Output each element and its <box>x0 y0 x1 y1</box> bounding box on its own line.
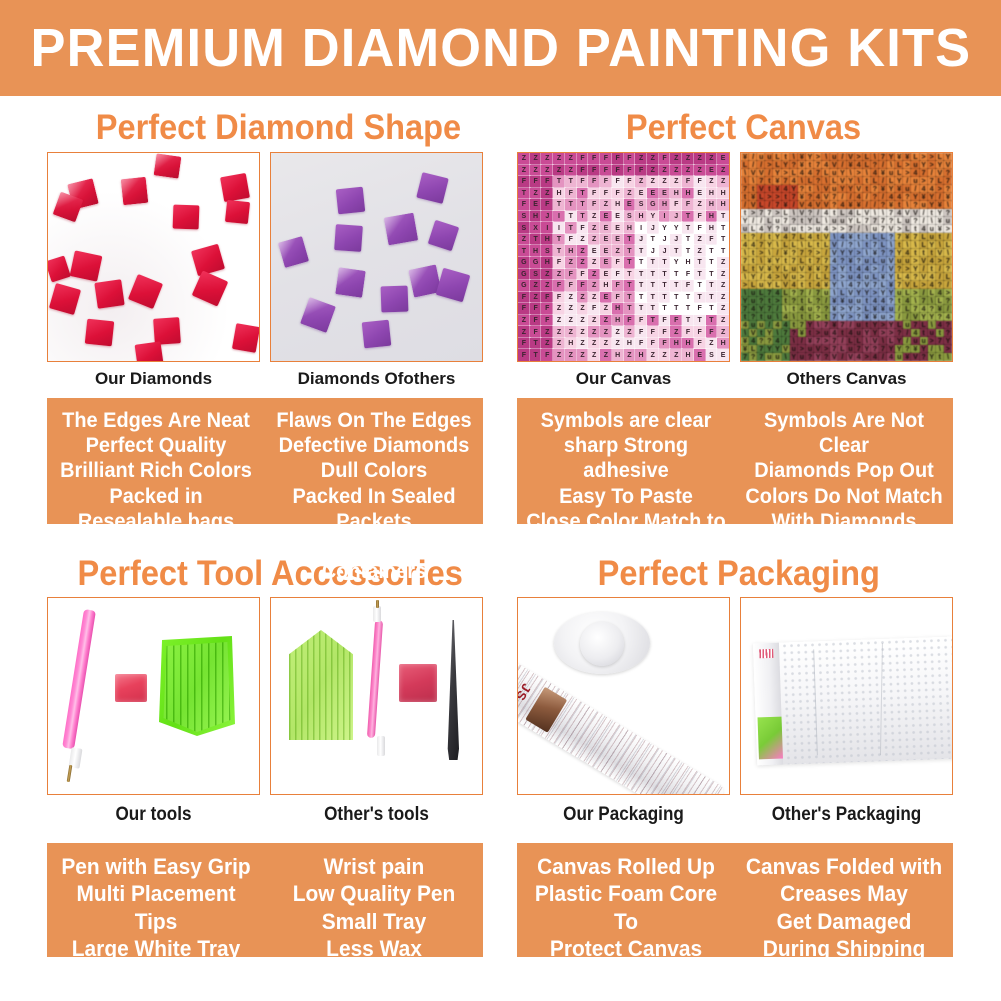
canvas-symbol-cell: / <box>895 305 903 313</box>
canvas-symbol-cell: 7 <box>814 257 822 265</box>
canvas-symbol-cell: 4 <box>822 209 830 217</box>
canvas-symbol-cell: t <box>741 193 749 201</box>
canvas-symbol-cell: 4 <box>879 297 887 305</box>
canvas-symbol-cell: 7 <box>782 177 790 185</box>
canvas-symbol-cell: F <box>541 176 553 188</box>
canvas-symbol-cell: T <box>694 269 706 281</box>
canvas-symbol-cell: ? <box>944 185 952 193</box>
canvas-symbol-cell: t <box>822 313 830 321</box>
canvas-symbol-cell: Y <box>659 222 671 234</box>
canvas-symbol-cell: T <box>717 245 729 257</box>
canvas-symbol-cell: 7 <box>879 225 887 233</box>
canvas-symbol-cell: t <box>814 241 822 249</box>
caption-other-diamonds: Diamonds Ofothers <box>270 370 483 387</box>
canvas-symbol-cell: ? <box>871 193 879 201</box>
canvas-symbol-cell: L <box>911 153 919 161</box>
canvas-symbol-cell: / <box>903 313 911 321</box>
canvas-symbol-cell: Z <box>635 153 647 165</box>
canvas-symbol-cell: 4 <box>928 281 936 289</box>
canvas-symbol-cell: t <box>765 233 773 241</box>
canvas-symbol-cell: J <box>541 211 553 223</box>
canvas-symbol-cell: 4 <box>920 305 928 313</box>
canvas-symbol-cell: Z <box>588 222 600 234</box>
canvas-symbol-cell: T <box>706 245 718 257</box>
canvas-symbol-cell: T <box>565 222 577 234</box>
canvas-symbol-cell: ? <box>895 265 903 273</box>
canvas-symbol-cell: F <box>565 280 577 292</box>
canvas-symbol-cell: u <box>863 273 871 281</box>
canvas-symbol-cell: / <box>920 289 928 297</box>
canvas-symbol-cell: Y <box>863 329 871 337</box>
canvas-symbol-cell: ? <box>855 313 863 321</box>
canvas-symbol-cell: F <box>612 153 624 165</box>
canvas-symbol-cell: T <box>553 245 565 257</box>
canvas-symbol-cell: ? <box>790 249 798 257</box>
canvas-symbol-cell: 4 <box>936 289 944 297</box>
canvas-symbol-cell: ¥ <box>806 337 814 345</box>
canvas-symbol-cell: T <box>717 222 729 234</box>
canvas-symbol-cell: t <box>749 257 757 265</box>
canvas-symbol-cell: 7 <box>871 217 879 225</box>
canvas-symbol-cell: t <box>765 185 773 193</box>
canvas-symbol-cell: 7 <box>741 353 749 361</box>
canvas-symbol-cell: t <box>895 297 903 305</box>
canvas-symbol-cell: \ <box>790 313 798 321</box>
canvas-symbol-cell: Z <box>530 292 542 304</box>
canvas-symbol-cell: Z <box>694 234 706 246</box>
canvas-symbol-cell: 4 <box>741 321 749 329</box>
canvas-symbol-cell: u <box>830 153 838 161</box>
canvas-symbol-cell: Z <box>541 269 553 281</box>
canvas-symbol-cell: 4 <box>871 297 879 305</box>
canvas-symbol-cell: > <box>928 161 936 169</box>
canvas-symbol-cell: 4 <box>749 305 757 313</box>
canvas-symbol-cell: F <box>588 153 600 165</box>
canvas-symbol-cell: ? <box>879 201 887 209</box>
canvas-symbol-cell: F <box>518 292 530 304</box>
canvas-symbol-cell: u <box>911 161 919 169</box>
canvas-symbol-cell: > <box>944 225 952 233</box>
canvas-symbol-cell: Y <box>928 201 936 209</box>
canvas-symbol-cell: L <box>944 273 952 281</box>
canvas-symbol-cell: 7 <box>911 233 919 241</box>
canvas-symbol-cell: / <box>944 233 952 241</box>
canvas-symbol-cell: \ <box>814 321 822 329</box>
canvas-symbol-cell: 7 <box>911 321 919 329</box>
canvas-symbol-cell: t <box>749 185 757 193</box>
canvas-symbol-cell: 4 <box>928 257 936 265</box>
canvas-symbol-cell: / <box>879 161 887 169</box>
canvas-symbol-cell: Z <box>588 292 600 304</box>
canvas-symbol-cell: Y <box>895 337 903 345</box>
canvas-symbol-cell: 4 <box>928 273 936 281</box>
canvas-symbol-cell: / <box>911 185 919 193</box>
canvas-symbol-cell: Y <box>847 217 855 225</box>
canvas-symbol-cell: \ <box>936 241 944 249</box>
canvas-symbol-cell: ? <box>887 217 895 225</box>
canvas-symbol-cell: u <box>847 345 855 353</box>
canvas-symbol-cell: ? <box>903 345 911 353</box>
canvas-symbol-cell: Y <box>928 353 936 361</box>
canvas-symbol-cell: F <box>624 176 636 188</box>
canvas-symbol-cell: Y <box>887 289 895 297</box>
canvas-symbol-cell: 4 <box>830 257 838 265</box>
canvas-symbol-cell: ¥ <box>741 337 749 345</box>
canvas-symbol-cell: L <box>855 337 863 345</box>
canvas-symbol-cell: ? <box>790 161 798 169</box>
canvas-symbol-cell: ? <box>790 297 798 305</box>
canvas-symbol-cell: 4 <box>798 169 806 177</box>
canvas-symbol-cell: / <box>790 201 798 209</box>
canvas-symbol-cell: 4 <box>790 177 798 185</box>
canvas-symbol-cell: F <box>541 292 553 304</box>
canvas-symbol-cell: V <box>847 153 855 161</box>
canvas-symbol-cell: t <box>863 241 871 249</box>
canvas-symbol-cell: ¥ <box>879 273 887 281</box>
canvas-symbol-cell: t <box>920 249 928 257</box>
canvas-symbol-cell: F <box>635 165 647 177</box>
canvas-symbol-cell: F <box>670 315 682 327</box>
canvas-symbol-cell: > <box>936 185 944 193</box>
canvas-symbol-cell: Z <box>670 165 682 177</box>
canvas-symbol-cell: Y <box>887 273 895 281</box>
canvas-symbol-cell: F <box>518 349 530 361</box>
canvas-symbol-cell: / <box>822 297 830 305</box>
canvas-symbol-cell: T <box>624 303 636 315</box>
canvas-symbol-cell: \ <box>741 329 749 337</box>
canvas-symbol-cell: T <box>706 269 718 281</box>
canvas-symbol-cell: H <box>600 280 612 292</box>
canvas-symbol-cell: ¥ <box>822 281 830 289</box>
canvas-symbol-cell: J <box>635 234 647 246</box>
canvas-symbol-cell: / <box>806 289 814 297</box>
canvas-symbol-cell: / <box>838 153 846 161</box>
canvas-symbol-cell: T <box>647 257 659 269</box>
canvas-symbol-cell: L <box>773 161 781 169</box>
canvas-symbol-cell: 4 <box>749 337 757 345</box>
canvas-symbol-cell: \ <box>855 241 863 249</box>
canvas-symbol-cell: u <box>757 153 765 161</box>
canvas-symbol-cell: u <box>928 329 936 337</box>
canvas-symbol-cell: Z <box>694 245 706 257</box>
canvas-symbol-cell: E <box>588 245 600 257</box>
canvas-symbol-cell: Z <box>659 176 671 188</box>
canvas-symbol-cell: J <box>659 234 671 246</box>
canvas-symbol-cell: L <box>822 169 830 177</box>
canvas-symbol-cell: I <box>659 211 671 223</box>
canvas-symbol-cell: \ <box>944 201 952 209</box>
canvas-symbol-cell: u <box>765 313 773 321</box>
canvas-symbol-cell: 4 <box>855 353 863 361</box>
canvas-symbol-cell: ¥ <box>847 161 855 169</box>
canvas-symbol-cell: Z <box>553 349 565 361</box>
canvas-symbol-cell: ¥ <box>903 233 911 241</box>
canvas-symbol-cell: u <box>830 169 838 177</box>
canvas-symbol-cell: L <box>944 241 952 249</box>
canvas-symbol-cell: 4 <box>757 225 765 233</box>
canvas-symbol-cell: Y <box>895 345 903 353</box>
canvas-symbol-cell: L <box>757 201 765 209</box>
canvas-symbol-cell: L <box>822 273 830 281</box>
canvas-symbol-cell: Z <box>647 176 659 188</box>
canvas-symbol-cell: V <box>822 233 830 241</box>
panel-canvas-ours: Symbols are clear sharp Strong adhesive … <box>522 408 729 559</box>
canvas-symbol-cell: F <box>612 165 624 177</box>
canvas-symbol-cell: t <box>782 297 790 305</box>
canvas-symbol-cell: T <box>530 338 542 350</box>
canvas-symbol-cell: S <box>518 222 530 234</box>
canvas-symbol-cell: Y <box>670 257 682 269</box>
canvas-symbol-cell: 4 <box>765 273 773 281</box>
canvas-symbol-cell: E <box>694 188 706 200</box>
canvas-symbol-cell: F <box>577 280 589 292</box>
canvas-symbol-cell: ? <box>928 305 936 313</box>
canvas-symbol-cell: > <box>871 289 879 297</box>
caption-our-tools: Our tools <box>58 805 250 824</box>
canvas-symbol-cell: T <box>624 280 636 292</box>
canvas-symbol-cell: L <box>814 217 822 225</box>
canvas-symbol-cell: / <box>773 305 781 313</box>
canvas-symbol-cell: T <box>565 176 577 188</box>
canvas-symbol-cell: Z <box>553 338 565 350</box>
canvas-symbol-cell: Z <box>518 326 530 338</box>
canvas-symbol-cell: u <box>855 329 863 337</box>
canvas-symbol-cell: L <box>863 161 871 169</box>
canvas-symbol-cell: H <box>682 257 694 269</box>
canvas-symbol-cell: Y <box>773 233 781 241</box>
canvas-symbol-cell: E <box>717 153 729 165</box>
canvas-symbol-cell: ¥ <box>741 153 749 161</box>
canvas-symbol-cell: > <box>879 321 887 329</box>
canvas-symbol-cell: Z <box>670 176 682 188</box>
canvas-symbol-cell: t <box>798 281 806 289</box>
canvas-symbol-cell: E <box>612 234 624 246</box>
canvas-symbol-cell: L <box>895 169 903 177</box>
canvas-symbol-cell: t <box>855 233 863 241</box>
canvas-symbol-cell: L <box>903 305 911 313</box>
canvas-symbol-cell: Y <box>847 177 855 185</box>
canvas-symbol-cell: ¥ <box>798 329 806 337</box>
canvas-symbol-cell: J <box>670 234 682 246</box>
canvas-symbol-cell: / <box>838 337 846 345</box>
canvas-symbol-cell: > <box>879 329 887 337</box>
canvas-symbol-cell: F <box>553 280 565 292</box>
canvas-symbol-cell: L <box>911 281 919 289</box>
canvas-symbol-cell: L <box>863 153 871 161</box>
canvas-symbol-cell: V <box>887 225 895 233</box>
canvas-symbol-cell: Z <box>706 338 718 350</box>
canvas-symbol-cell: t <box>928 249 936 257</box>
canvas-symbol-cell: u <box>798 353 806 361</box>
canvas-symbol-cell: L <box>822 241 830 249</box>
canvas-symbol-cell: ? <box>871 345 879 353</box>
canvas-symbol-cell: 7 <box>879 217 887 225</box>
canvas-symbol-cell: / <box>847 193 855 201</box>
canvas-symbol-cell: u <box>847 297 855 305</box>
canvas-symbol-cell: H <box>682 349 694 361</box>
canvas-symbol-cell: t <box>757 313 765 321</box>
canvas-symbol-cell: L <box>920 233 928 241</box>
canvas-symbol-cell: Y <box>838 185 846 193</box>
canvas-symbol-cell: t <box>806 161 814 169</box>
canvas-symbol-cell: E <box>600 269 612 281</box>
canvas-symbol-cell: E <box>600 257 612 269</box>
canvas-symbol-cell: E <box>600 245 612 257</box>
canvas-symbol-cell: L <box>847 337 855 345</box>
canvas-symbol-cell: > <box>920 177 928 185</box>
canvas-symbol-cell: / <box>903 329 911 337</box>
canvas-symbol-cell: Z <box>659 349 671 361</box>
canvas-symbol-cell: > <box>773 209 781 217</box>
canvas-symbol-cell: 7 <box>773 201 781 209</box>
canvas-symbol-cell: T <box>670 303 682 315</box>
canvas-symbol-cell: > <box>814 249 822 257</box>
canvas-symbol-cell: L <box>798 233 806 241</box>
caption-our-diamonds: Our Diamonds <box>47 370 260 387</box>
canvas-symbol-cell: I <box>541 222 553 234</box>
canvas-symbol-cell: T <box>706 315 718 327</box>
canvas-symbol-cell: 7 <box>936 337 944 345</box>
canvas-symbol-cell: L <box>814 273 822 281</box>
canvas-symbol-cell: ¥ <box>895 153 903 161</box>
canvas-symbol-cell: G <box>647 199 659 211</box>
canvas-symbol-cell: / <box>928 345 936 353</box>
canvas-symbol-cell: Z <box>717 280 729 292</box>
our-canvas-image: ZZZZZFFFFFZZFZZZZEZZZZZFFFFFFZZZZZEZFFFT… <box>517 152 730 362</box>
canvas-symbol-cell: H <box>717 199 729 211</box>
canvas-symbol-cell: F <box>624 153 636 165</box>
canvas-symbol-cell: u <box>895 257 903 265</box>
canvas-symbol-cell: ? <box>822 305 830 313</box>
canvas-symbol-cell: 7 <box>944 257 952 265</box>
canvas-symbol-cell: T <box>624 234 636 246</box>
canvas-symbol-cell: H <box>717 188 729 200</box>
canvas-symbol-cell: u <box>757 281 765 289</box>
canvas-symbol-cell: \ <box>790 209 798 217</box>
caption-other-canvas: Others Canvas <box>740 370 953 387</box>
canvas-symbol-cell: 4 <box>855 273 863 281</box>
canvas-symbol-cell: t <box>798 225 806 233</box>
canvas-symbol-cell: Z <box>670 153 682 165</box>
canvas-symbol-cell: Z <box>541 153 553 165</box>
canvas-symbol-cell: ¥ <box>765 257 773 265</box>
canvas-symbol-cell: T <box>670 280 682 292</box>
canvas-symbol-cell: H <box>624 222 636 234</box>
canvas-symbol-cell: \ <box>944 249 952 257</box>
canvas-symbol-cell: T <box>694 257 706 269</box>
canvas-symbol-cell: E <box>624 199 636 211</box>
canvas-symbol-cell: V <box>830 249 838 257</box>
canvas-symbol-cell: Y <box>773 169 781 177</box>
panel-packaging: Canvas Rolled Up Plastic Foam Core To Pr… <box>517 843 953 957</box>
canvas-symbol-cell: \ <box>822 177 830 185</box>
canvas-symbol-cell: > <box>855 305 863 313</box>
canvas-symbol-cell: 7 <box>798 249 806 257</box>
canvas-symbol-cell: Z <box>518 165 530 177</box>
canvas-symbol-cell: > <box>814 313 822 321</box>
canvas-symbol-cell: Z <box>565 326 577 338</box>
canvas-symbol-cell: Z <box>530 153 542 165</box>
canvas-symbol-cell: 7 <box>741 185 749 193</box>
canvas-symbol-cell: \ <box>830 289 838 297</box>
canvas-symbol-cell: 7 <box>895 281 903 289</box>
canvas-symbol-cell: / <box>920 209 928 217</box>
canvas-symbol-cell: ? <box>920 353 928 361</box>
canvas-symbol-cell: 7 <box>765 289 773 297</box>
canvas-symbol-cell: Z <box>588 211 600 223</box>
canvas-symbol-cell: Z <box>717 315 729 327</box>
canvas-symbol-cell: L <box>757 289 765 297</box>
canvas-symbol-cell: / <box>798 337 806 345</box>
canvas-symbol-cell: > <box>773 273 781 281</box>
canvas-symbol-cell: u <box>887 305 895 313</box>
canvas-symbol-cell: S <box>530 269 542 281</box>
canvas-symbol-cell: t <box>863 185 871 193</box>
canvas-symbol-cell: F <box>541 315 553 327</box>
canvas-symbol-cell: L <box>871 177 879 185</box>
canvas-symbol-cell: t <box>806 329 814 337</box>
canvas-symbol-cell: Z <box>717 292 729 304</box>
canvas-symbol-cell: \ <box>879 209 887 217</box>
canvas-symbol-cell: Y <box>814 353 822 361</box>
canvas-symbol-cell: > <box>838 273 846 281</box>
canvas-symbol-cell: / <box>871 201 879 209</box>
canvas-symbol-cell: L <box>806 177 814 185</box>
canvas-symbol-cell: ? <box>936 313 944 321</box>
canvas-symbol-cell: 7 <box>830 193 838 201</box>
canvas-symbol-cell: u <box>944 217 952 225</box>
canvas-symbol-cell: H <box>635 211 647 223</box>
canvas-symbol-cell: L <box>749 281 757 289</box>
canvas-symbol-cell: 7 <box>847 225 855 233</box>
panel-diamond-shape-others: Flaws On The Edges Defective Diamonds Du… <box>270 408 477 584</box>
canvas-symbol-cell: t <box>798 297 806 305</box>
canvas-symbol-cell: \ <box>741 177 749 185</box>
canvas-symbol-cell: Z <box>565 315 577 327</box>
canvas-symbol-cell: F <box>635 338 647 350</box>
canvas-symbol-cell: > <box>765 193 773 201</box>
canvas-symbol-cell: Z <box>612 338 624 350</box>
canvas-symbol-cell: 7 <box>944 177 952 185</box>
canvas-symbol-cell: F <box>553 292 565 304</box>
canvas-symbol-cell: / <box>814 209 822 217</box>
canvas-symbol-cell: t <box>895 241 903 249</box>
canvas-symbol-cell: T <box>647 292 659 304</box>
canvas-symbol-cell: T <box>706 257 718 269</box>
canvas-symbol-cell: Z <box>624 188 636 200</box>
canvas-symbol-cell: Y <box>887 153 895 161</box>
canvas-symbol-cell: T <box>706 303 718 315</box>
canvas-symbol-cell: > <box>903 161 911 169</box>
canvas-symbol-cell: ? <box>871 185 879 193</box>
canvas-symbol-cell: u <box>749 321 757 329</box>
canvas-symbol-cell: S <box>541 245 553 257</box>
canvas-symbol-cell: ? <box>814 297 822 305</box>
canvas-symbol-cell: \ <box>822 217 830 225</box>
canvas-symbol-cell: \ <box>911 297 919 305</box>
canvas-symbol-cell: V <box>847 353 855 361</box>
canvas-symbol-cell: V <box>782 273 790 281</box>
canvas-symbol-cell: F <box>612 257 624 269</box>
canvas-symbol-cell: F <box>694 326 706 338</box>
canvas-symbol-cell: u <box>806 345 814 353</box>
canvas-symbol-cell: ¥ <box>871 305 879 313</box>
canvas-symbol-cell: u <box>879 257 887 265</box>
canvas-symbol-cell: 4 <box>944 313 952 321</box>
canvas-symbol-cell: H <box>670 188 682 200</box>
canvas-symbol-cell: T <box>659 292 671 304</box>
canvas-symbol-cell: Y <box>936 209 944 217</box>
